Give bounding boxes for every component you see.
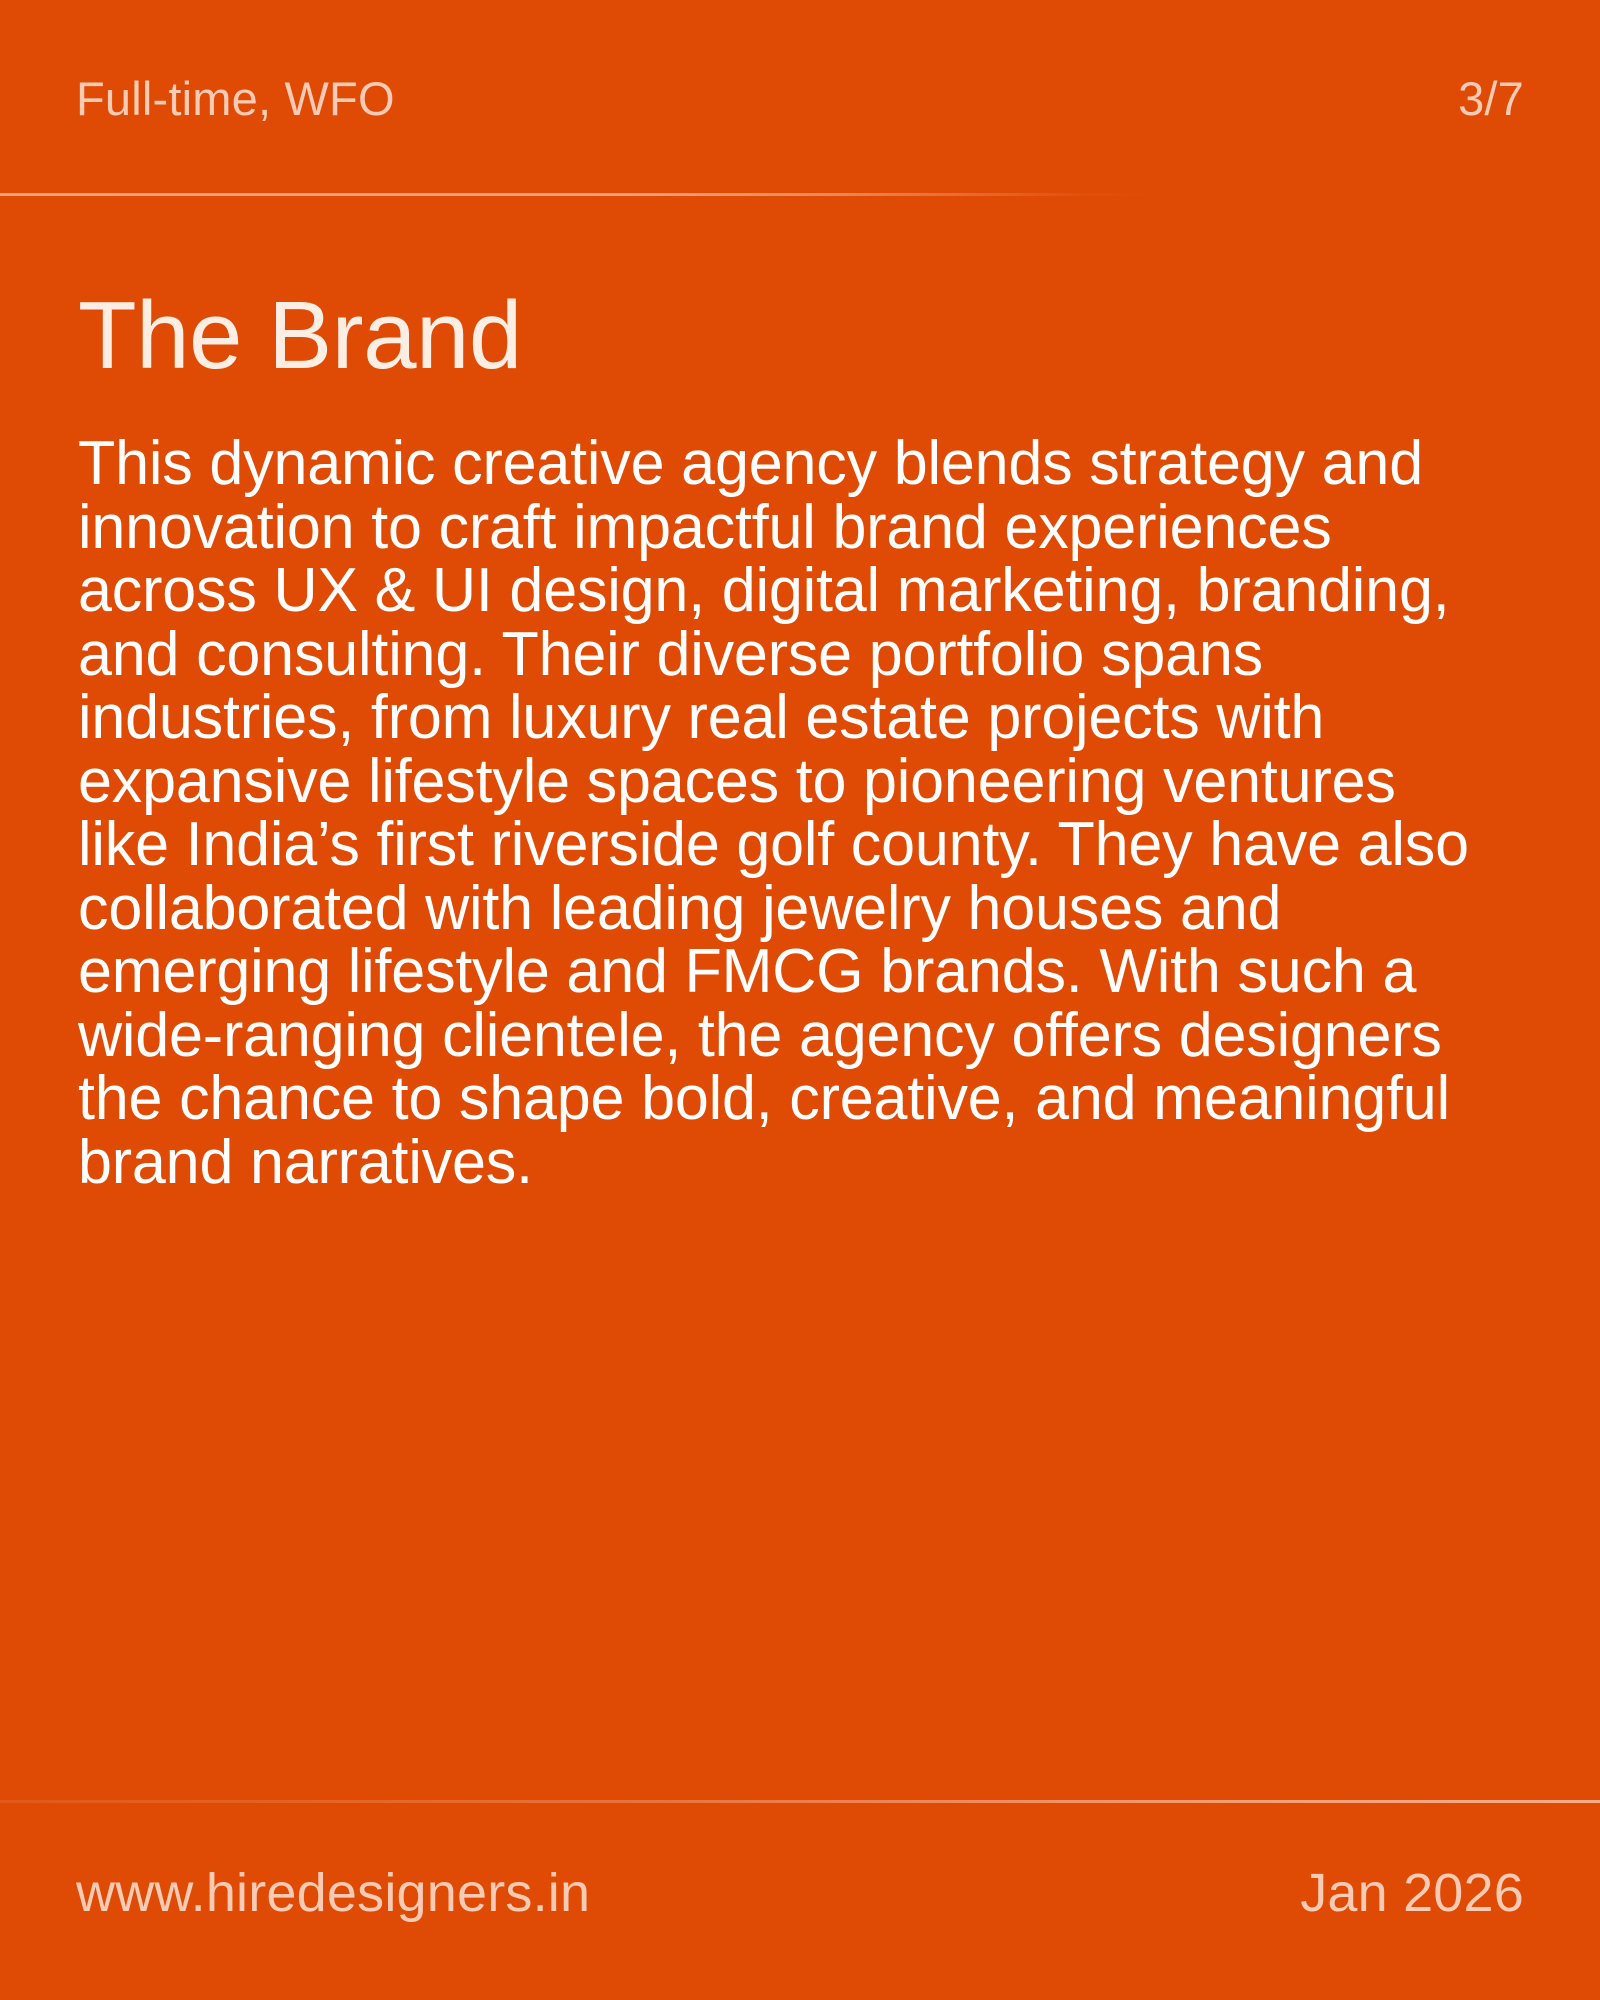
website-label[interactable]: www.hiredesigners.in bbox=[76, 1866, 590, 1920]
date-label: Jan 2026 bbox=[1300, 1866, 1524, 1920]
slide-card: Full-time, WFO 3/7 The Brand This dynami… bbox=[0, 0, 1600, 2000]
page-title: The Brand bbox=[78, 288, 1504, 384]
page-indicator: 3/7 bbox=[1458, 75, 1524, 122]
header-divider bbox=[0, 193, 1600, 196]
slide-footer: www.hiredesigners.in Jan 2026 bbox=[0, 1800, 1600, 2000]
slide-header: Full-time, WFO 3/7 bbox=[0, 0, 1600, 196]
slide-content: The Brand This dynamic creative agency b… bbox=[0, 196, 1600, 1800]
employment-meta-label: Full-time, WFO bbox=[76, 75, 395, 122]
footer-divider bbox=[0, 1800, 1600, 1803]
body-paragraph: This dynamic creative agency blends stra… bbox=[78, 432, 1477, 1195]
